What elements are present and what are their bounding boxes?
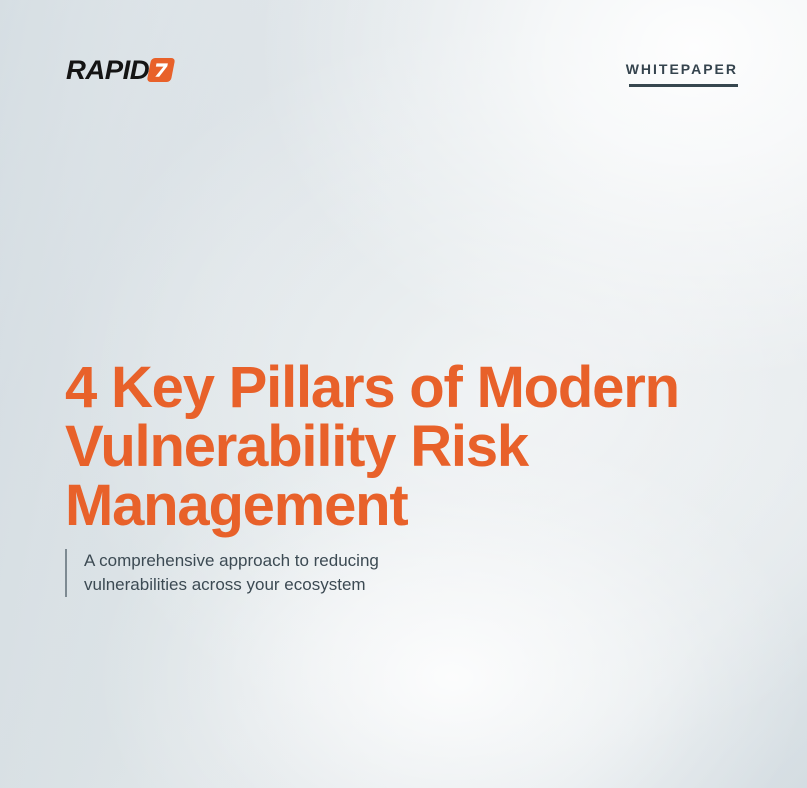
page-title: 4 Key Pillars of Modern Vulnerability Ri… bbox=[65, 358, 725, 535]
subtitle-block: A comprehensive approach to reducing vul… bbox=[65, 549, 379, 597]
page-subtitle: A comprehensive approach to reducing vul… bbox=[67, 549, 379, 597]
whitepaper-cover-page: RAPID WHITEPAPER 4 Key Pillars of Modern… bbox=[0, 0, 807, 788]
hero-section: 4 Key Pillars of Modern Vulnerability Ri… bbox=[0, 0, 807, 788]
